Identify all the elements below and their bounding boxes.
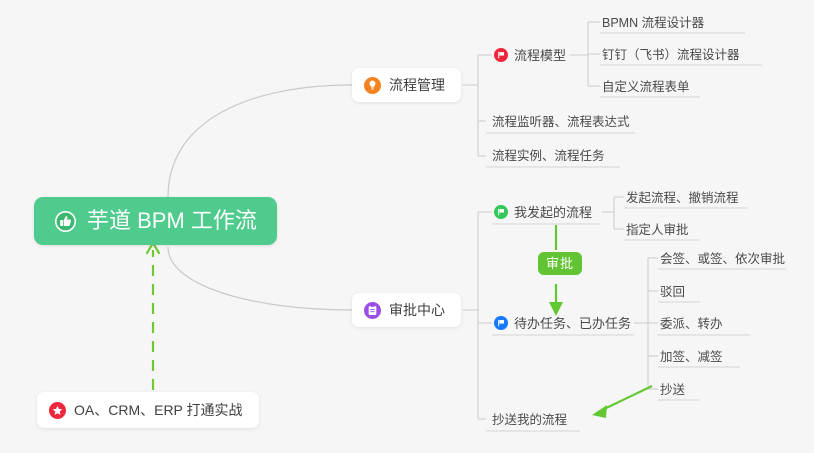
leaf-delegate-transfer[interactable]: 委派、转办 [658,311,729,337]
leaf-custom-form[interactable]: 自定义流程表单 [600,74,696,100]
leaf-label: 流程实例、流程任务 [492,150,605,163]
branch-process-management[interactable]: 流程管理 [352,68,461,102]
node-label: 流程模型 [514,49,566,62]
leaf-listener-expression[interactable]: 流程监听器、流程表达式 [490,109,636,135]
root-label: 芋道 BPM 工作流 [87,210,257,232]
leaf-bpmn-designer[interactable]: BPMN 流程设计器 [600,10,710,36]
lightbulb-pin-icon [364,77,381,94]
node-process-model[interactable]: 流程模型 [492,42,572,68]
floating-node-integration[interactable]: OA、CRM、ERP 打通实战 [37,392,259,428]
leaf-cc-to-me-processes[interactable]: 抄送我的流程 [490,407,573,433]
leaf-label: 委派、转办 [660,318,723,331]
mindmap-canvas: 芋道 BPM 工作流 流程管理 流程模型 BPMN 流程设计器 钉钉（飞书）流程 [0,0,814,453]
cc-arrow [592,386,652,418]
branch-label: 流程管理 [389,78,445,92]
annotation-approve-badge: 审批 [538,252,582,275]
star-icon [49,402,66,419]
leaf-label: BPMN 流程设计器 [602,17,704,30]
leaf-cc[interactable]: 抄送 [658,377,691,403]
leaf-label: 自定义流程表单 [602,81,690,94]
leaf-dingtalk-feishu-designer[interactable]: 钉钉（飞书）流程设计器 [600,42,746,68]
leaf-label: 会签、或签、依次审批 [660,253,785,266]
floating-node-label: OA、CRM、ERP 打通实战 [74,403,243,417]
flag-icon [494,48,508,62]
thumbs-up-icon [54,210,77,233]
leaf-label: 加签、减签 [660,351,723,364]
annotation-label: 审批 [546,256,574,271]
node-label: 我发起的流程 [514,206,592,219]
leaf-label: 抄送 [660,384,685,397]
branch-approval-center[interactable]: 审批中心 [352,293,461,327]
leaf-label: 流程监听器、流程表达式 [492,116,630,129]
leaf-instance-task[interactable]: 流程实例、流程任务 [490,143,611,169]
dashed-arrow-to-root [147,243,159,390]
leaf-label: 驳回 [660,286,685,299]
flag-icon [494,316,508,330]
leaf-label: 发起流程、撤销流程 [626,192,739,205]
root-node[interactable]: 芋道 BPM 工作流 [34,197,277,245]
flag-icon [494,205,508,219]
leaf-countersign[interactable]: 会签、或签、依次审批 [658,246,791,272]
node-todo-done-tasks[interactable]: 待办任务、已办任务 [492,310,637,336]
leaf-label: 抄送我的流程 [492,414,567,427]
node-my-initiated-processes[interactable]: 我发起的流程 [492,199,598,225]
node-label: 待办任务、已办任务 [514,317,631,330]
leaf-start-cancel-process[interactable]: 发起流程、撤销流程 [624,185,745,211]
clipboard-icon [364,302,381,319]
leaf-label: 指定人审批 [626,224,689,237]
leaf-reject[interactable]: 驳回 [658,279,691,305]
branch-label: 审批中心 [389,303,445,317]
leaf-add-remove-sign[interactable]: 加签、减签 [658,344,729,370]
leaf-label: 钉钉（飞书）流程设计器 [602,49,740,62]
leaf-assignee-approval[interactable]: 指定人审批 [624,217,695,243]
